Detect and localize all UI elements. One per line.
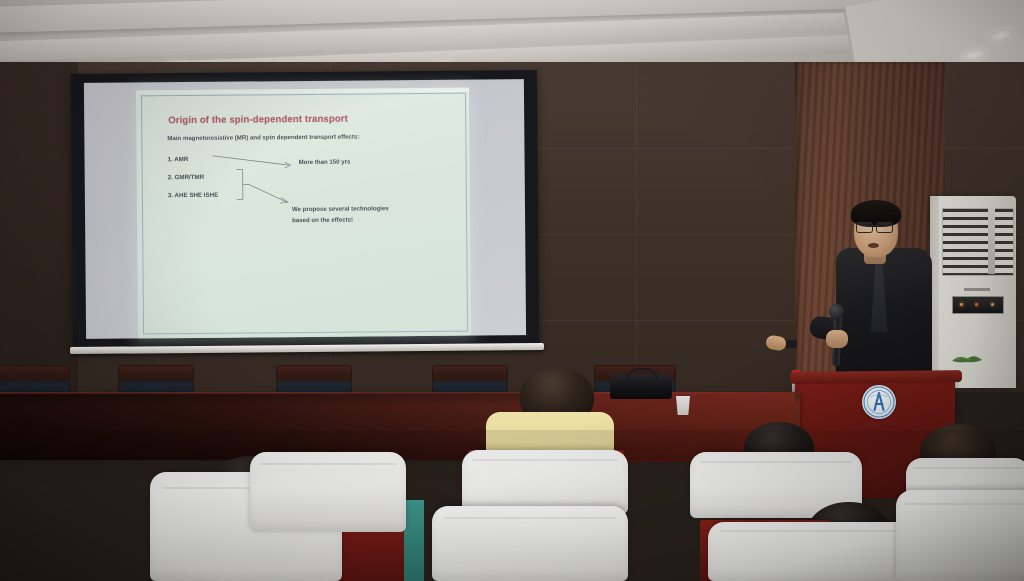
slide-list-item-3: 3. AHE SHE ISHE: [168, 192, 218, 199]
slide-list-item-2: 2. GMR/TMR: [168, 174, 204, 181]
chair-cover: [250, 452, 406, 532]
audience-seat-teal: [404, 500, 424, 581]
speaker-right-hand: [826, 330, 848, 348]
screen-surface: Origin of the spin-dependent transport M…: [84, 79, 526, 339]
slide-callout-proposal-line2: based on the effects!: [292, 214, 389, 226]
slide-callout-proposal: We propose several technologies based on…: [292, 203, 389, 226]
handbag-handle: [626, 368, 658, 380]
projected-slide: Origin of the spin-dependent transport M…: [136, 88, 471, 339]
lectern-top-rail: [790, 370, 962, 384]
chair-cover: [896, 490, 1024, 581]
ac-control-panel[interactable]: [952, 296, 1004, 314]
microphone-head-icon: [829, 304, 844, 319]
slide-list-item-1: 1. AMR: [168, 156, 189, 163]
chair-cover: [462, 450, 628, 514]
eyeglasses-bridge-icon: [871, 225, 876, 226]
projection-screen[interactable]: Origin of the spin-dependent transport M…: [71, 70, 539, 350]
chair-cover: [708, 522, 912, 581]
lecture-hall-photo: Origin of the spin-dependent transport M…: [0, 0, 1024, 581]
institution-emblem-icon: [862, 385, 896, 419]
presentation-clicker-icon: [786, 340, 797, 348]
ac-brand-logo: [964, 288, 990, 291]
wall-left-section: [0, 62, 78, 392]
chair-cover: [432, 506, 628, 581]
slide-callout-150yrs: More than 150 yrs: [299, 159, 351, 166]
air-conditioner-unit: [930, 196, 1016, 388]
slide-callout-proposal-line1: We propose several technologies: [292, 203, 389, 215]
eyeglasses-right-lens-icon: [876, 222, 893, 233]
speaker-mouth: [868, 243, 879, 248]
ac-grille-tab: [988, 208, 995, 274]
slide-title: Origin of the spin-dependent transport: [168, 114, 348, 127]
potted-plant-icon: [950, 350, 984, 364]
eyeglasses-left-lens-icon: [856, 222, 873, 233]
ac-louver-grille: [942, 208, 1014, 276]
dais-shadow-overlay: [0, 394, 800, 460]
